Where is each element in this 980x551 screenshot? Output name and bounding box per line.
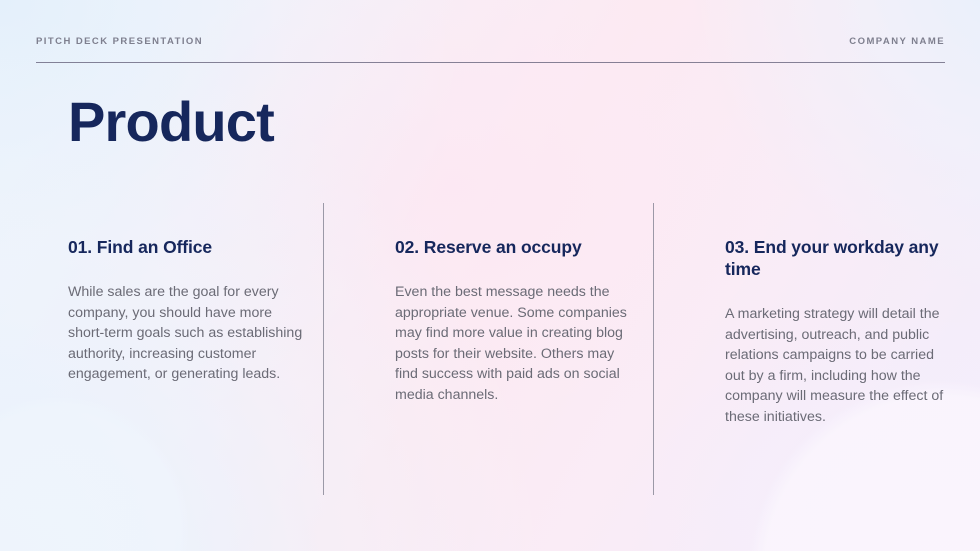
feature-body-3: A marketing strategy will detail the adv… bbox=[725, 280, 948, 427]
column-divider-2 bbox=[653, 203, 654, 495]
page-title: Product bbox=[68, 90, 274, 154]
feature-heading-3: 03. End your workday any time bbox=[725, 203, 948, 280]
feature-column-3: 03. End your workday any time A marketin… bbox=[653, 203, 948, 495]
slide-canvas: PITCH DECK PRESENTATION COMPANY NAME Pro… bbox=[0, 0, 980, 551]
feature-column-1: 01. Find an Office While sales are the g… bbox=[68, 203, 323, 495]
feature-column-2: 02. Reserve an occupy Even the best mess… bbox=[323, 203, 653, 495]
feature-body-2: Even the best message needs the appropri… bbox=[395, 258, 633, 405]
header-left-label: PITCH DECK PRESENTATION bbox=[36, 36, 203, 48]
feature-heading-1: 01. Find an Office bbox=[68, 203, 303, 258]
feature-body-1: While sales are the goal for every compa… bbox=[68, 258, 303, 385]
header-right-label: COMPANY NAME bbox=[849, 36, 945, 48]
feature-columns: 01. Find an Office While sales are the g… bbox=[68, 203, 948, 495]
header-divider-rule bbox=[36, 62, 945, 63]
slide-content: PITCH DECK PRESENTATION COMPANY NAME Pro… bbox=[0, 0, 980, 551]
slide-header: PITCH DECK PRESENTATION COMPANY NAME bbox=[36, 36, 945, 60]
column-divider-1 bbox=[323, 203, 324, 495]
feature-heading-2: 02. Reserve an occupy bbox=[395, 203, 633, 258]
